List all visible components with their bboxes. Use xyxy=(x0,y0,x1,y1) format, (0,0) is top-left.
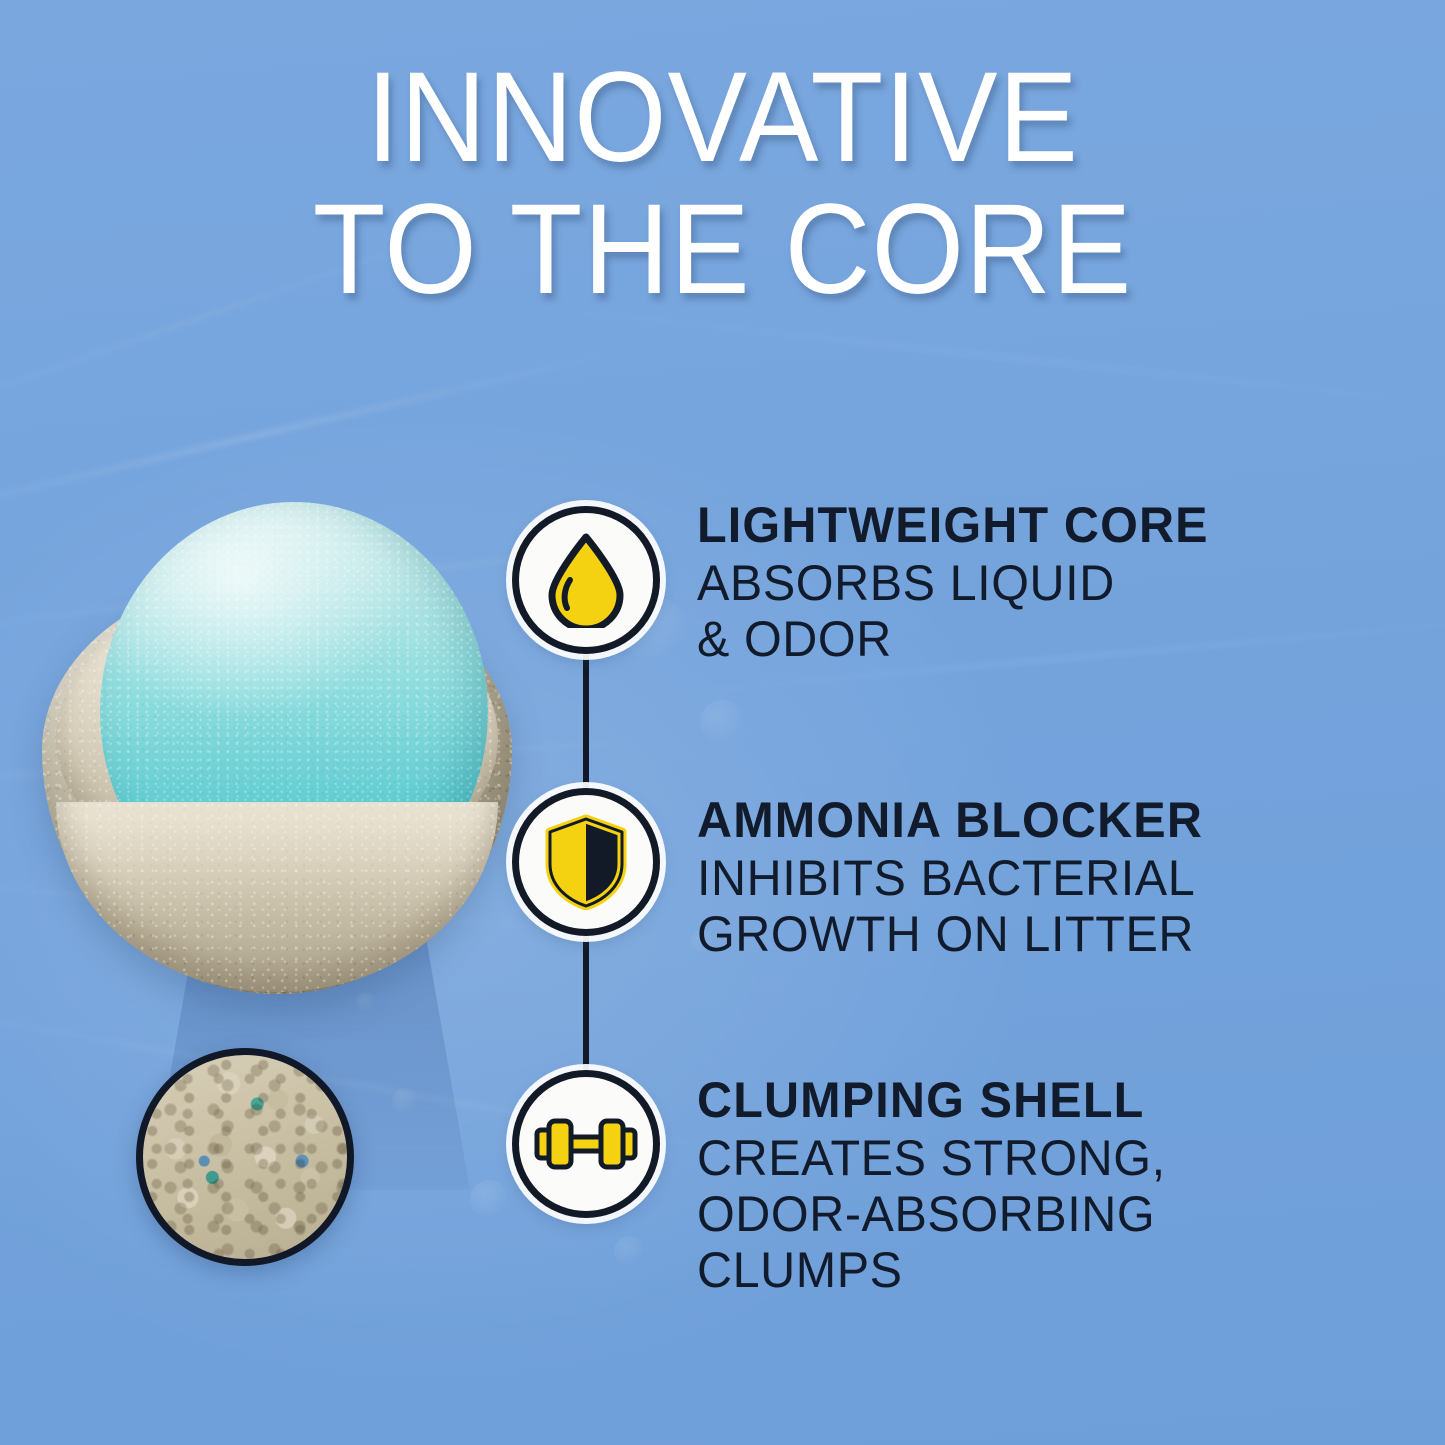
page-title: INNOVATIVE TO THE CORE xyxy=(51,52,1395,316)
feature-title-1: LIGHTWEIGHT CORE xyxy=(697,498,1376,552)
litter-granules-closeup xyxy=(136,1048,354,1266)
feature-title-3: CLUMPING SHELL xyxy=(697,1073,1376,1127)
feature-icon-badge-1 xyxy=(512,506,660,654)
feature-text-2: AMMONIA BLOCKER INHIBITS BACTERIAL GROWT… xyxy=(697,793,1376,962)
shell-front-lip xyxy=(56,802,498,992)
feature-body-1: ABSORBS LIQUID & ODOR xyxy=(697,555,1376,667)
feature-body-2: INHIBITS BACTERIAL GROWTH ON LITTER xyxy=(697,850,1376,962)
dumbbell-icon xyxy=(534,1113,638,1175)
feature-title-2: AMMONIA BLOCKER xyxy=(697,793,1376,847)
droplet-icon xyxy=(544,532,628,628)
cutaway-litter-sphere xyxy=(42,502,522,1002)
infographic-poster: INNOVATIVE TO THE CORE xyxy=(0,0,1445,1445)
feature-icon-badge-3 xyxy=(512,1070,660,1218)
shield-icon xyxy=(542,814,630,910)
feature-text-1: LIGHTWEIGHT CORE ABSORBS LIQUID & ODOR xyxy=(697,498,1376,667)
feature-icon-badge-2 xyxy=(512,788,660,936)
feature-text-3: CLUMPING SHELL CREATES STRONG, ODOR-ABSO… xyxy=(697,1073,1376,1298)
feature-body-3: CREATES STRONG, ODOR-ABSORBING CLUMPS xyxy=(697,1130,1376,1298)
